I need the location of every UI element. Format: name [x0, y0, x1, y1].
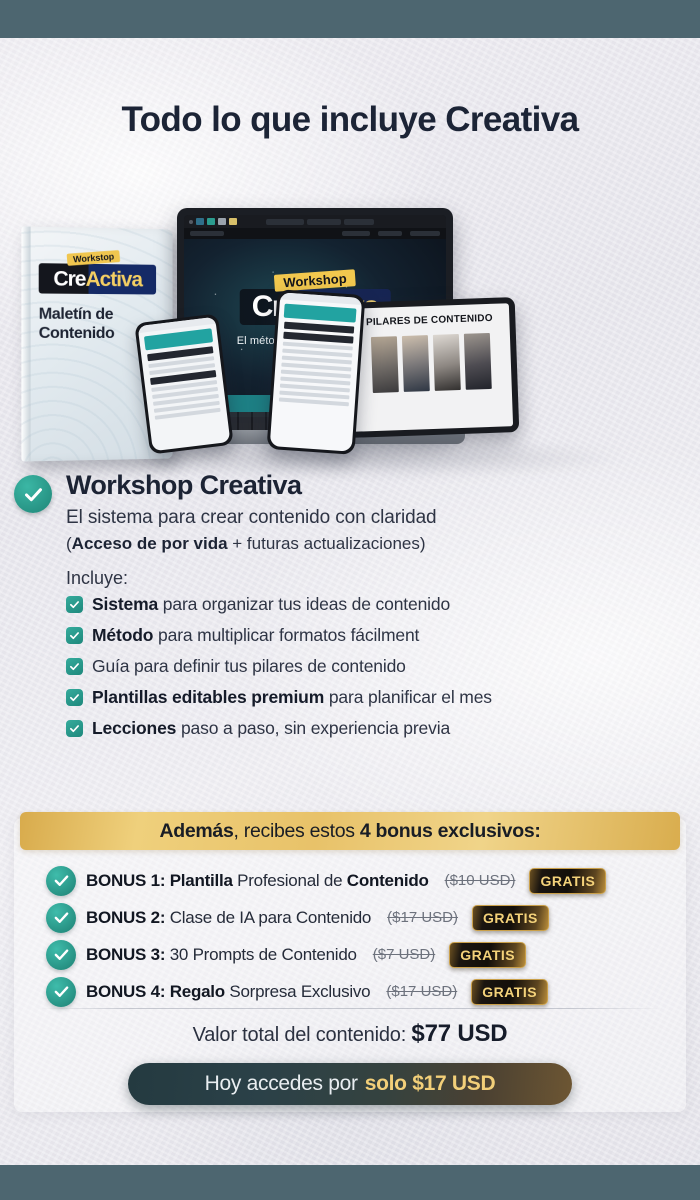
banner-bold-count: 4 bonus exclusivos: — [360, 820, 541, 842]
status-badge: GRATIS — [471, 979, 548, 1005]
bonus-text: BONUS 4: Regalo Sorpresa Exclusivo — [86, 982, 370, 1002]
toolbar-swatch-icon — [207, 218, 215, 225]
offer-note: (Acceso de por vida + futuras actualizac… — [66, 534, 437, 554]
status-badge: GRATIS — [449, 942, 526, 968]
bonus-mid: Sorpresa Exclusivo — [225, 982, 370, 1001]
feature-bold: Sistema — [92, 594, 158, 614]
divider — [38, 1008, 662, 1009]
table-row: BONUS 3: 30 Prompts de Contenido ($7 USD… — [14, 936, 686, 973]
tablet-thumbnail — [370, 336, 398, 393]
bonus-label: BONUS 2: — [86, 908, 165, 927]
list-item: Lecciones paso a paso, sin experiencia p… — [66, 718, 700, 739]
feature-text: Lecciones paso a paso, sin experiencia p… — [92, 718, 450, 739]
tablet-thumbnail — [401, 335, 429, 392]
phone-row — [279, 397, 349, 406]
book-logo: CreActiva — [39, 263, 156, 294]
check-circle-icon — [14, 475, 52, 513]
check-square-icon — [66, 720, 83, 737]
bonus-original-price: ($10 USD) — [445, 872, 516, 889]
check-circle-icon — [46, 977, 76, 1007]
feature-text: Plantillas editables premium para planif… — [92, 687, 492, 708]
book-logo-cre: Cre — [53, 268, 85, 289]
feature-list: Sistema para organizar tus ideas de cont… — [66, 594, 700, 739]
offer-title: Workshop Creativa — [66, 470, 437, 501]
bonus-mid: Profesional de — [233, 871, 347, 890]
bonus-row-list: BONUS 1: Plantilla Profesional de Conten… — [14, 862, 686, 1010]
toolbar-swatch-icon — [229, 218, 237, 225]
bonus-mid: 30 Prompts de Contenido — [165, 945, 357, 964]
offer-subtitle: El sistema para crear contenido con clar… — [66, 507, 437, 529]
list-item: Guía para definir tus pilares de conteni… — [66, 656, 700, 677]
check-circle-icon — [46, 903, 76, 933]
phone-left-mockup — [134, 313, 233, 454]
list-item: Sistema para organizar tus ideas de cont… — [66, 594, 700, 615]
menubar-item — [410, 231, 440, 236]
toolbar-field — [266, 219, 304, 225]
feature-rest: paso a paso, sin experiencia previa — [176, 718, 450, 738]
table-row: BONUS 4: Regalo Sorpresa Exclusivo ($17 … — [14, 973, 686, 1010]
table-row: BONUS 1: Plantilla Profesional de Conten… — [14, 862, 686, 899]
bonus-original-price: ($17 USD) — [387, 909, 458, 926]
check-circle-icon — [46, 866, 76, 896]
bonus-card: Además, recibes estos 4 bonus exclusivos… — [14, 818, 686, 1112]
toolbar-swatch-icon — [218, 218, 226, 225]
list-item: Método para multiplicar formatos fácilme… — [66, 625, 700, 646]
hero-product-mockups: Workstop CreActiva Maletín de Contenido — [0, 188, 700, 488]
phone-statusbar — [280, 292, 362, 305]
bonus-text: BONUS 3: 30 Prompts de Contenido — [86, 945, 357, 965]
page-canvas: Todo lo que incluye Creativa Workstop Cr… — [0, 38, 700, 1165]
status-badge: GRATIS — [529, 868, 606, 894]
bonus-label: BONUS 4: — [86, 982, 165, 1001]
laptop-toolbar — [184, 215, 446, 228]
cta-text: Hoy accedes por — [205, 1072, 358, 1096]
tablet-mockup: PILARES DE CONTENIDO — [343, 297, 520, 438]
feature-rest: Guía para definir tus pilares de conteni… — [92, 656, 406, 676]
toolbar-field — [307, 219, 341, 225]
menubar-item — [378, 231, 402, 236]
feature-bold: Lecciones — [92, 718, 176, 738]
tablet-thumbnail — [432, 334, 460, 391]
cta-price: solo $17 USD — [365, 1072, 496, 1096]
phone-right-screen — [270, 292, 363, 451]
menubar-item — [342, 231, 370, 236]
tablet-thumbnail — [463, 333, 491, 390]
phone-left-screen — [138, 317, 231, 452]
note-rest: + futuras actualizaciones) — [228, 534, 426, 553]
banner-mid: , recibes estos — [234, 820, 360, 842]
bonus-label: BONUS 3: — [86, 945, 165, 964]
phone-header-band — [284, 304, 357, 323]
offer-section: Workshop Creativa El sistema para crear … — [0, 470, 700, 749]
bonus-label: BONUS 1: — [86, 871, 165, 890]
bonus-bold2: Contenido — [347, 871, 429, 890]
cta-button[interactable]: Hoy accedes porsolo $17 USD — [128, 1063, 572, 1105]
check-circle-icon — [46, 940, 76, 970]
check-square-icon — [66, 596, 83, 613]
bonus-banner-text: Además, recibes estos 4 bonus exclusivos… — [159, 820, 540, 843]
feature-bold: Plantillas editables premium — [92, 687, 324, 707]
feature-text: Guía para definir tus pilares de conteni… — [92, 656, 406, 677]
offer-title-group: Workshop Creativa El sistema para crear … — [66, 470, 437, 554]
feature-rest: para organizar tus ideas de contenido — [158, 594, 450, 614]
toolbar-dot-icon — [189, 220, 193, 224]
list-item: Plantillas editables premium para planif… — [66, 687, 700, 708]
bonus-banner: Además, recibes estos 4 bonus exclusivos… — [20, 812, 680, 850]
banner-bold-ademas: Además — [159, 820, 233, 842]
note-bold: Acceso de por vida — [72, 534, 228, 553]
bonus-bold1: Regalo — [165, 982, 225, 1001]
tablet-screen: PILARES DE CONTENIDO — [349, 303, 513, 432]
menubar-item — [190, 231, 224, 236]
bonus-text: BONUS 2: Clase de IA para Contenido — [86, 908, 371, 928]
bonus-original-price: ($7 USD) — [373, 946, 436, 963]
total-value-line: Valor total del contenido: $77 USD — [14, 1020, 686, 1048]
bottom-band — [0, 1165, 700, 1200]
phone-right-mockup — [267, 289, 366, 455]
bonus-bold1: Plantilla — [165, 871, 232, 890]
status-badge: GRATIS — [472, 905, 549, 931]
bonus-mid: Clase de IA para Contenido — [165, 908, 371, 927]
total-amount: $77 USD — [411, 1020, 507, 1047]
offer-header: Workshop Creativa El sistema para crear … — [0, 470, 700, 554]
total-label: Valor total del contenido: — [193, 1024, 412, 1046]
check-square-icon — [66, 627, 83, 644]
feature-rest: para multiplicar formatos fácilment — [153, 625, 419, 645]
toolbar-field — [344, 219, 374, 225]
tablet-title: PILARES DE CONTENIDO — [366, 313, 493, 328]
includes-label: Incluye: — [66, 568, 700, 589]
feature-rest: para planificar el mes — [324, 687, 492, 707]
bonus-text: BONUS 1: Plantilla Profesional de Conten… — [86, 871, 429, 891]
page-title: Todo lo que incluye Creativa — [0, 100, 700, 140]
top-band — [0, 0, 700, 38]
laptop-menubar — [184, 228, 446, 239]
check-square-icon — [66, 689, 83, 706]
feature-bold: Método — [92, 625, 153, 645]
toolbar-swatch-icon — [196, 218, 204, 225]
feature-text: Sistema para organizar tus ideas de cont… — [92, 594, 450, 615]
tablet-thumbnail-grid — [370, 333, 491, 393]
book-logo-activa: Activa — [86, 268, 142, 290]
table-row: BONUS 2: Clase de IA para Contenido ($17… — [14, 899, 686, 936]
check-square-icon — [66, 658, 83, 675]
bonus-original-price: ($17 USD) — [386, 983, 457, 1000]
feature-text: Método para multiplicar formatos fácilme… — [92, 625, 419, 646]
